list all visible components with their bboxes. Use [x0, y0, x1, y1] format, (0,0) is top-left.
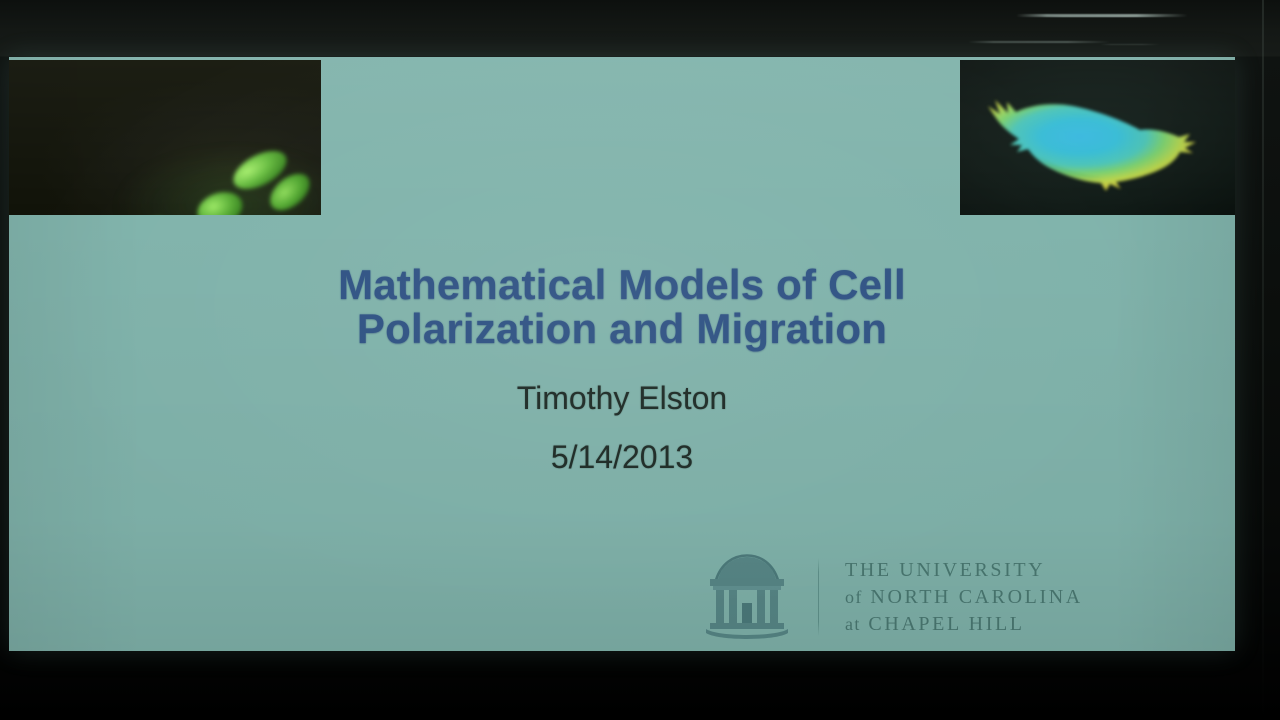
ceiling-light-streak: [1100, 44, 1160, 45]
wordmark-line-2-prefix: of: [845, 587, 863, 607]
wordmark-line-3: at CHAPEL HILL: [845, 611, 1083, 638]
unc-logo-lockup: THE UNIVERSITY of NORTH CAROLINA at CHAP…: [694, 547, 1234, 647]
presenter-name: Timothy Elston: [9, 381, 1235, 415]
wordmark-line-2: of NORTH CAROLINA: [845, 584, 1083, 611]
page-title: Mathematical Models of Cell Polarization…: [9, 264, 1235, 350]
wordmark-line-3-main: CHAPEL HILL: [868, 613, 1024, 635]
title-line-1: Mathematical Models of Cell: [9, 264, 1235, 306]
unc-old-well-rotunda-icon: [698, 549, 796, 645]
unc-wordmark: THE UNIVERSITY of NORTH CAROLINA at CHAP…: [845, 557, 1083, 638]
presentation-date: 5/14/2013: [9, 440, 1235, 474]
ceiling-light-streak: [968, 41, 1110, 43]
wordmark-line-3-prefix: at: [845, 614, 861, 634]
wordmark-line-1: THE UNIVERSITY: [845, 557, 1083, 584]
ceiling-light-streak: [1040, 16, 1166, 17]
heatmap-migrating-cell-image: [960, 60, 1235, 215]
title-line-2: Polarization and Migration: [9, 308, 1235, 350]
migrating-cell-shape: [978, 90, 1218, 195]
wall-seam: [1262, 0, 1264, 720]
wordmark-line-2-main: NORTH CAROLINA: [870, 586, 1082, 608]
projected-presentation-slide: Mathematical Models of Cell Polarization…: [9, 57, 1235, 651]
lecture-video-frame: Mathematical Models of Cell Polarization…: [0, 0, 1280, 720]
logo-divider: [818, 558, 819, 636]
fluorescence-micrograph-yeast-cells: [9, 60, 321, 215]
